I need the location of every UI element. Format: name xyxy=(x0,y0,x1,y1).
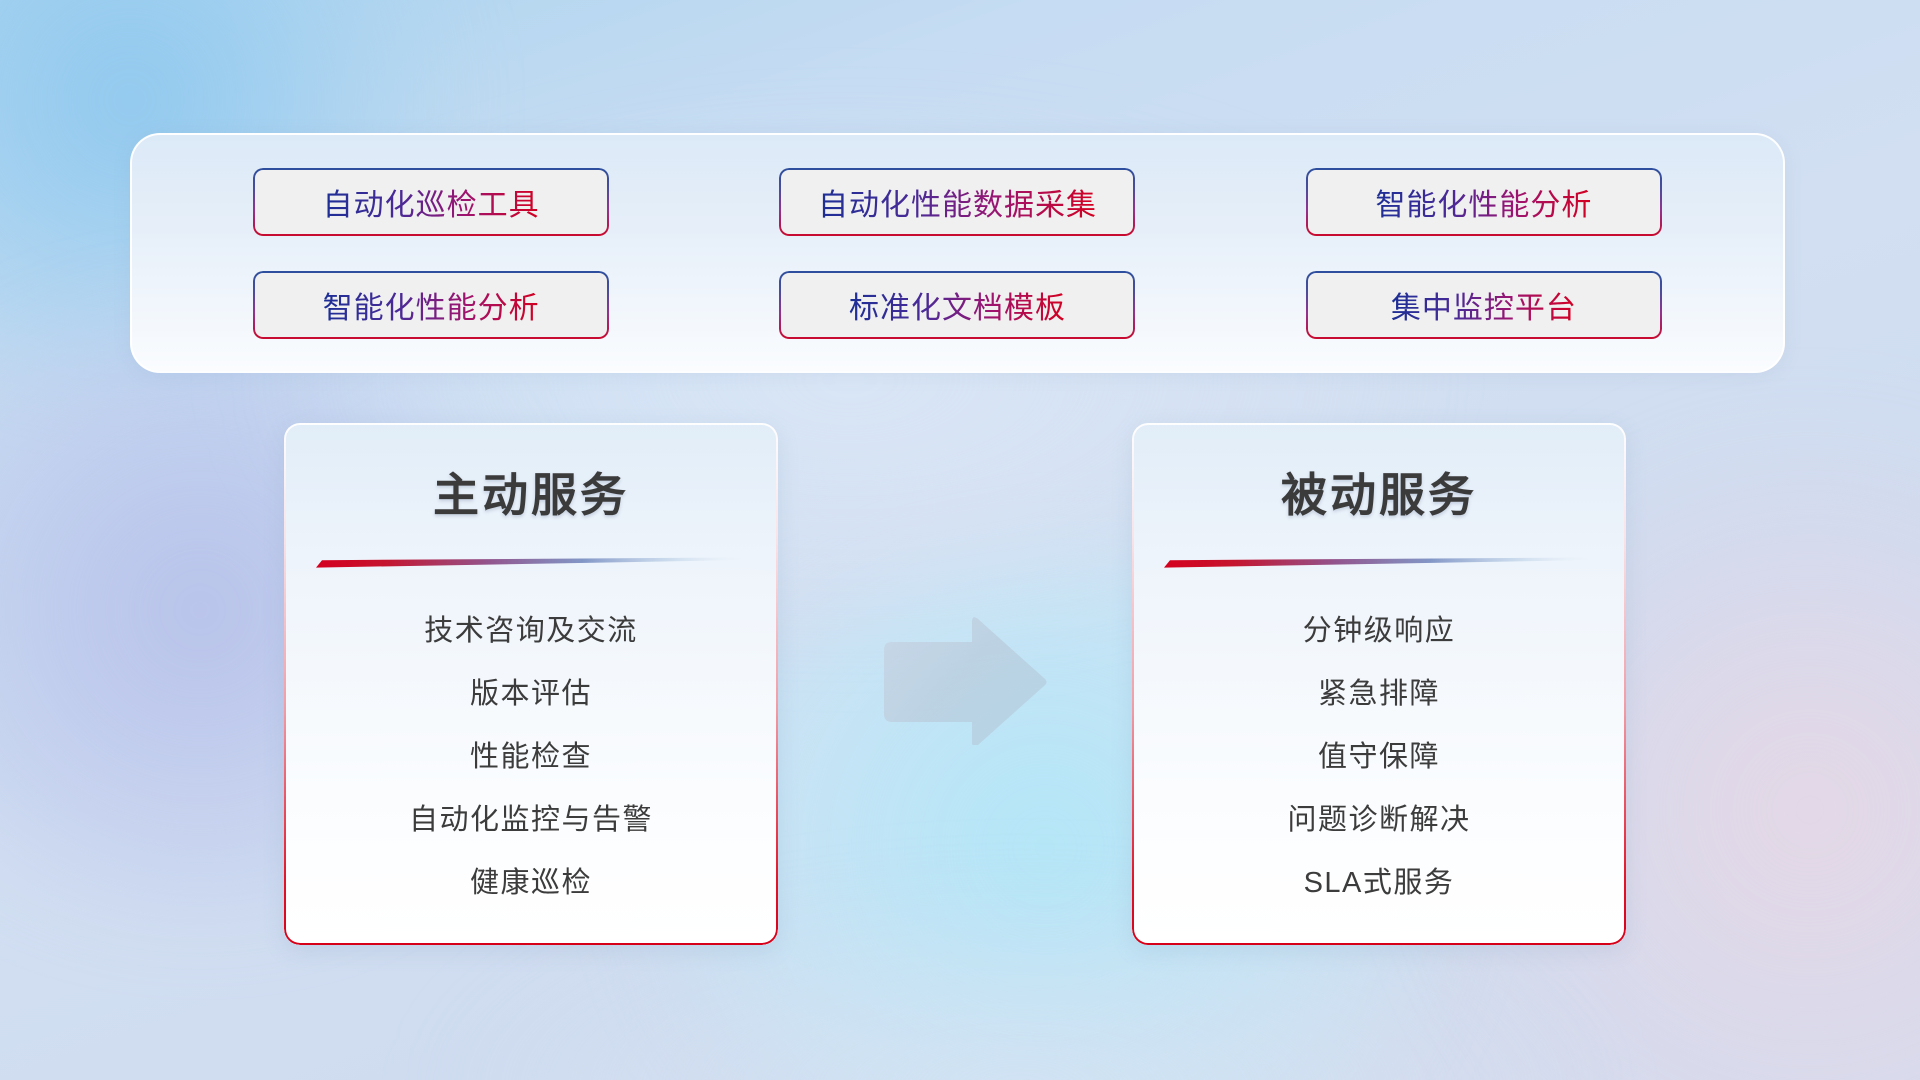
service-list-item: SLA式服务 xyxy=(1132,852,1626,915)
capability-pill-label: 智能化性能分析 xyxy=(1375,180,1592,224)
capability-pill-4[interactable]: 智能化性能分析 xyxy=(253,271,609,339)
capability-panel: 自动化巡检工具 自动化性能数据采集 智能化性能分析 智能化性能分析 标准化文档模… xyxy=(130,133,1785,373)
capability-pill-6[interactable]: 集中监控平台 xyxy=(1306,271,1662,339)
capability-pill-2[interactable]: 自动化性能数据采集 xyxy=(779,168,1135,236)
arrow-right-icon xyxy=(878,615,1048,745)
capability-pill-grid: 自动化巡检工具 自动化性能数据采集 智能化性能分析 智能化性能分析 标准化文档模… xyxy=(132,135,1783,371)
service-list-item: 健康巡检 xyxy=(284,852,778,915)
service-list-item: 技术咨询及交流 xyxy=(284,600,778,663)
service-list-active: 技术咨询及交流 版本评估 性能检查 自动化监控与告警 健康巡检 xyxy=(284,600,778,915)
card-title-passive: 被动服务 xyxy=(1132,459,1626,525)
capability-pill-1[interactable]: 自动化巡检工具 xyxy=(253,168,609,236)
capability-pill-label: 集中监控平台 xyxy=(1391,283,1577,327)
service-list-item: 问题诊断解决 xyxy=(1132,789,1626,852)
card-title-active: 主动服务 xyxy=(284,459,778,525)
card-divider-active xyxy=(316,557,746,568)
capability-pill-label: 智能化性能分析 xyxy=(323,283,540,327)
service-list-passive: 分钟级响应 紧急排障 值守保障 问题诊断解决 SLA式服务 xyxy=(1132,600,1626,915)
service-list-item: 分钟级响应 xyxy=(1132,600,1626,663)
capability-pill-label: 自动化性能数据采集 xyxy=(818,180,1097,224)
service-list-item: 性能检查 xyxy=(284,726,778,789)
diagram-canvas: 自动化巡检工具 自动化性能数据采集 智能化性能分析 智能化性能分析 标准化文档模… xyxy=(0,0,1920,1080)
capability-pill-label: 自动化巡检工具 xyxy=(323,180,540,224)
service-list-item: 版本评估 xyxy=(284,663,778,726)
service-list-item: 紧急排障 xyxy=(1132,663,1626,726)
capability-pill-3[interactable]: 智能化性能分析 xyxy=(1306,168,1662,236)
service-card-active[interactable]: 主动服务 技术咨询及交流 版本评估 性能检查 xyxy=(284,423,778,945)
capability-pill-5[interactable]: 标准化文档模板 xyxy=(779,271,1135,339)
card-divider-passive xyxy=(1164,557,1594,568)
service-list-item: 自动化监控与告警 xyxy=(284,789,778,852)
capability-pill-label: 标准化文档模板 xyxy=(849,283,1066,327)
service-card-passive[interactable]: 被动服务 分钟级响应 紧急排障 值守保障 xyxy=(1132,423,1626,945)
service-list-item: 值守保障 xyxy=(1132,726,1626,789)
